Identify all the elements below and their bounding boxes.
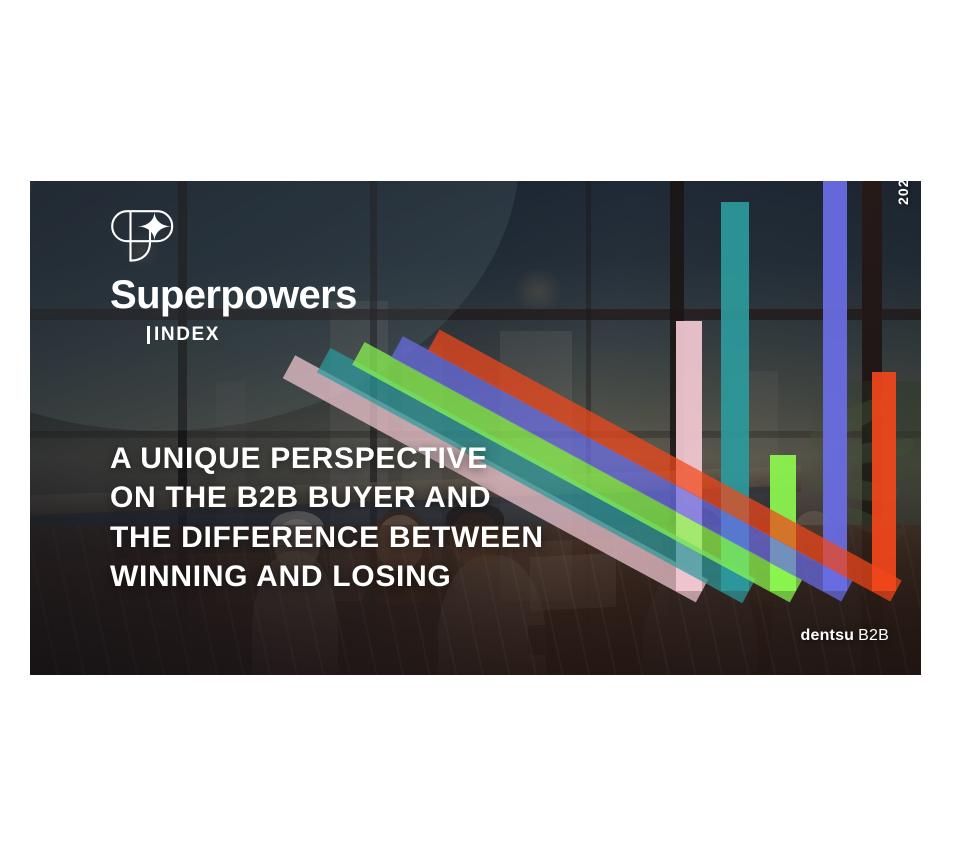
- wordmark-superpowers: Superpowers: [110, 275, 357, 315]
- index-sub-wordmark: INDEX: [147, 324, 357, 346]
- index-tick-mark: [147, 326, 150, 344]
- cover-artwork: Superpowers INDEX A UNIQUE PERSPECTIVE O…: [30, 181, 921, 675]
- superpowers-logo-mark: [110, 209, 184, 263]
- dentsu-wordmark: dentsu: [801, 627, 855, 644]
- headline-line-1: A UNIQUE PERSPECTIVE: [110, 439, 544, 478]
- headline-line-3: THE DIFFERENCE BETWEEN: [110, 518, 544, 557]
- edition-label: 2024 EDITION: [895, 181, 911, 205]
- headline-line-4: WINNING AND LOSING: [110, 557, 544, 596]
- headline-line-2: ON THE B2B BUYER AND: [110, 478, 544, 517]
- page-root: Superpowers INDEX A UNIQUE PERSPECTIVE O…: [0, 0, 960, 856]
- wordmark-index: INDEX: [154, 324, 220, 346]
- b2b-wordmark: B2B: [858, 627, 889, 644]
- brand-lockup: Superpowers INDEX: [110, 209, 357, 346]
- cover-headline: A UNIQUE PERSPECTIVE ON THE B2B BUYER AN…: [110, 439, 544, 596]
- dentsu-b2b-logo: dentsuB2B: [801, 627, 890, 645]
